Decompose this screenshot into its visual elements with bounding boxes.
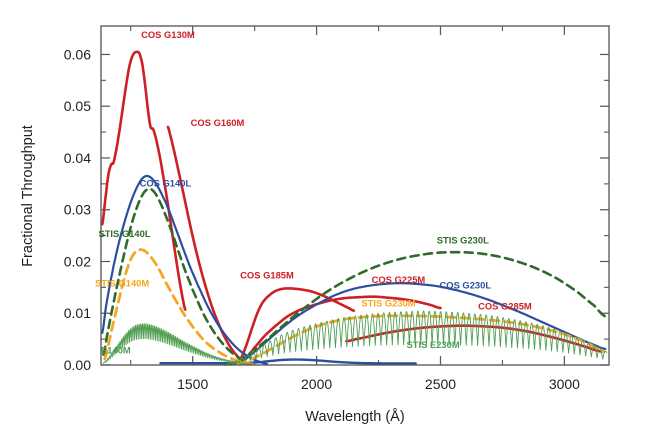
y-tick-label: 0.06 bbox=[64, 46, 91, 62]
series-label-stis-g140m: STIS G140M bbox=[95, 277, 149, 288]
y-tick-label: 0.05 bbox=[64, 98, 91, 114]
series-label-cos-g160m: COS G160M bbox=[191, 117, 245, 128]
x-tick-label: 1500 bbox=[177, 376, 208, 392]
y-tick-label: 0.00 bbox=[64, 357, 91, 373]
series-label-stis-g140l: STIS G140L bbox=[98, 228, 150, 239]
series-label-cos-g140l: COS G140L bbox=[140, 177, 192, 188]
y-axis-title: Fractional Throughput bbox=[20, 125, 36, 267]
figure-container: 15002000250030000.000.010.020.030.040.05… bbox=[0, 0, 649, 433]
x-tick-label: 3000 bbox=[549, 376, 580, 392]
series-label-stis-g230m: STIS G230M bbox=[361, 298, 415, 309]
series-label-cos-g185m: COS G185M bbox=[240, 270, 294, 281]
series-label-cos-g285m: COS G285M bbox=[478, 301, 532, 312]
throughput-chart: 15002000250030000.000.010.020.030.040.05… bbox=[0, 0, 649, 433]
series-label-cos-g130m: COS G130M bbox=[141, 29, 195, 40]
series-label-stis-e230m: STIS E230M bbox=[407, 339, 460, 350]
x-axis-title: Wavelength (Å) bbox=[305, 408, 404, 425]
y-tick-label: 0.04 bbox=[64, 150, 91, 166]
series-label-cos-g225m: COS G225M bbox=[372, 274, 426, 285]
series-label-cos-g230l: COS G230L bbox=[440, 279, 492, 290]
y-tick-label: 0.01 bbox=[64, 305, 91, 321]
x-tick-label: 2500 bbox=[425, 376, 456, 392]
series-label-e140m: E140M bbox=[101, 345, 131, 356]
y-tick-label: 0.03 bbox=[64, 202, 91, 218]
chart-background bbox=[0, 0, 649, 433]
series-label-stis-g230l: STIS G230L bbox=[437, 234, 489, 245]
x-tick-label: 2000 bbox=[301, 376, 332, 392]
y-tick-label: 0.02 bbox=[64, 253, 91, 269]
